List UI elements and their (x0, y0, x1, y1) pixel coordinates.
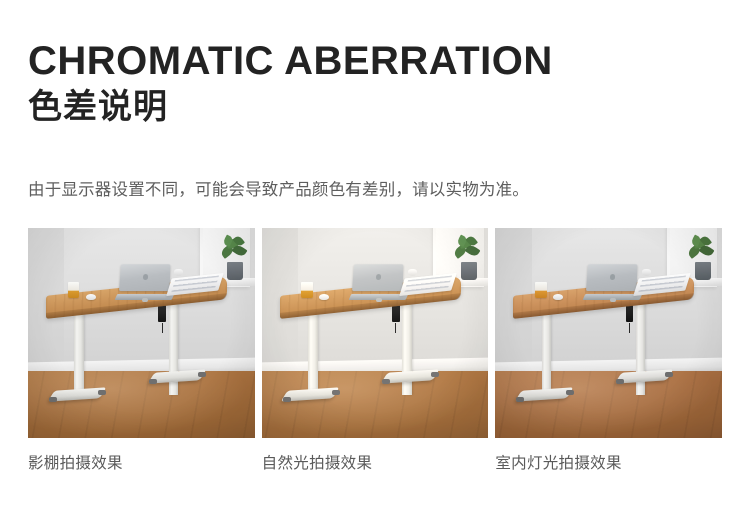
caption-natural-light: 自然光拍摄效果 (262, 452, 489, 478)
caption-indoor-lamp: 室内灯光拍摄效果 (495, 452, 722, 478)
desk-control-box (392, 305, 400, 323)
computer-mouse (553, 294, 563, 300)
photo-captions: 影棚拍摄效果 自然光拍摄效果 室内灯光拍摄效果 (28, 452, 722, 478)
small-cup (174, 269, 183, 276)
page-title-chinese: 色差说明 (28, 88, 722, 127)
laptop (116, 264, 173, 300)
laptop (584, 264, 641, 300)
desk-scene-indoor (495, 228, 722, 438)
small-cup (642, 269, 651, 276)
desk-control-wire (162, 323, 163, 334)
computer-mouse (86, 294, 96, 300)
page-title-english: CHROMATIC ABERRATION (28, 40, 722, 82)
laptop (350, 264, 407, 300)
standing-desk (495, 228, 722, 438)
page-heading: CHROMATIC ABERRATION 色差说明 (28, 40, 722, 127)
drinking-glass (68, 282, 80, 298)
photo-panel-natural-light[interactable] (262, 228, 489, 438)
disclaimer-text: 由于显示器设置不同，可能会导致产品颜色有差别，请以实物为准。 (28, 176, 529, 200)
standing-desk (262, 228, 489, 438)
desk-control-box (626, 305, 634, 323)
photo-panel-indoor-lamp[interactable] (495, 228, 722, 438)
desk-control-wire (629, 323, 630, 334)
small-cup (408, 269, 417, 276)
photo-gallery (28, 228, 722, 438)
desk-control-box (158, 305, 166, 323)
desk-scene-studio (28, 228, 255, 438)
chromatic-aberration-page: CHROMATIC ABERRATION 色差说明 由于显示器设置不同，可能会导… (0, 0, 750, 526)
cable-grommet (376, 298, 382, 302)
standing-desk (28, 228, 255, 438)
desk-scene-natural (262, 228, 489, 438)
desk-control-wire (395, 323, 396, 334)
caption-studio: 影棚拍摄效果 (28, 452, 255, 478)
drinking-glass (535, 282, 547, 298)
drinking-glass (301, 282, 313, 298)
photo-panel-studio[interactable] (28, 228, 255, 438)
cable-grommet (610, 298, 616, 302)
